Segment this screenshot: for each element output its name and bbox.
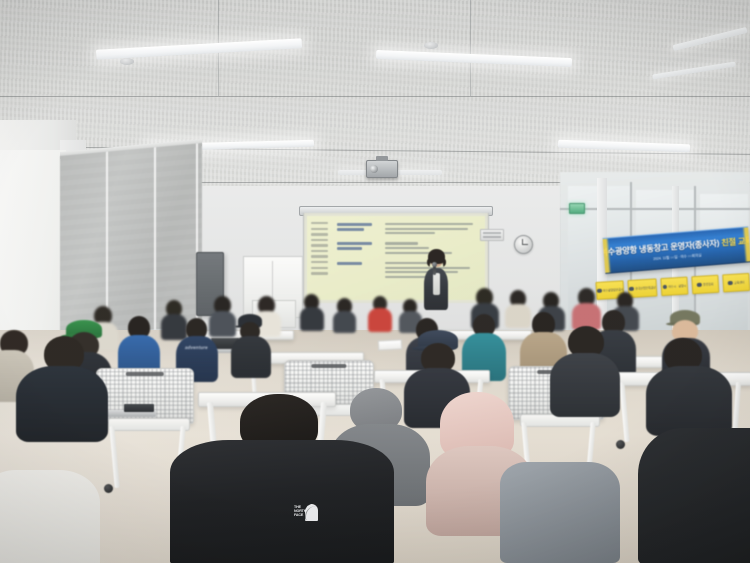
torso <box>161 314 187 340</box>
projection-screen: 사내문화 <box>303 213 489 303</box>
sponsor-logo-icon <box>728 281 733 286</box>
ceiling-tile-seam <box>0 96 750 97</box>
sponsor-logo-icon <box>662 285 667 290</box>
sponsor-logo-icon <box>629 287 634 292</box>
sponsor-placard-text: 여수광양항만공사 <box>603 287 624 292</box>
sponsor-placard: 한국산업인력공단 <box>628 278 658 298</box>
chair-handle <box>126 372 164 376</box>
torso <box>209 311 236 337</box>
glass-pane <box>700 194 748 344</box>
torso <box>16 366 108 442</box>
torso <box>333 311 356 333</box>
sponsor-placard: 교육센터 <box>722 273 750 293</box>
banner-text-highlight: 친절 교육 <box>721 236 750 247</box>
sponsor-placard-text: 교육센터 <box>734 280 745 285</box>
torso <box>231 336 271 378</box>
torso <box>550 353 620 417</box>
classroom-photo: 여수광양항 냉동창고 운영자(종사자) 친절 교육 2024. 11월 ○○일 … <box>0 0 750 563</box>
sponsor-placard-text: 한국산업인력공단 <box>635 285 656 290</box>
torso <box>368 308 392 332</box>
sponsor-placard-text: 여수시 · 광양시 <box>668 284 686 289</box>
chair-caster <box>104 484 113 493</box>
sponsor-logo-icon <box>697 282 702 287</box>
smoke-detector-icon <box>120 58 134 65</box>
sponsor-placard-text: 물류협회 <box>703 282 714 287</box>
torso <box>300 307 324 331</box>
sponsor-logo-icon <box>597 288 602 293</box>
wall-clock <box>514 235 533 254</box>
sponsor-placard: 여수시 · 광양시 <box>660 277 688 297</box>
presenter-torso <box>424 268 448 310</box>
torso <box>646 366 732 436</box>
wall-control-plate <box>480 229 504 241</box>
torso <box>0 470 100 563</box>
ceiling-tile-seam <box>470 0 471 96</box>
torso <box>638 428 750 563</box>
chair-seat <box>108 418 190 431</box>
projector-lens-icon <box>370 165 378 173</box>
adventure-brand-text: adventure <box>185 345 208 350</box>
chair-handle <box>311 364 346 368</box>
presentation-slide: 사내문화 <box>307 216 485 300</box>
backpack <box>500 462 620 563</box>
north-face-logo: THE NORTH FACE <box>294 504 318 522</box>
projector <box>366 160 398 178</box>
banner-text-prefix: 여수광양항 냉동창고 운영자(종사자) <box>603 239 722 258</box>
smoke-detector-icon <box>424 42 438 49</box>
sponsor-placard: 물류협회 <box>691 275 719 295</box>
table-caster <box>616 440 625 449</box>
presenter-hair <box>428 249 445 264</box>
north-face-wordmark: THE NORTH FACE <box>294 505 308 517</box>
handout-paper <box>378 339 402 350</box>
exit-sign <box>569 203 585 214</box>
glass-transom <box>560 208 750 210</box>
torso: THE NORTH FACE <box>170 440 394 563</box>
microphone <box>433 265 436 275</box>
torso <box>505 304 531 328</box>
banner-subtitle: 2024. 11월 ○○일 · 여수 ○○회의실 <box>653 253 702 262</box>
laptop-screen <box>124 404 154 412</box>
